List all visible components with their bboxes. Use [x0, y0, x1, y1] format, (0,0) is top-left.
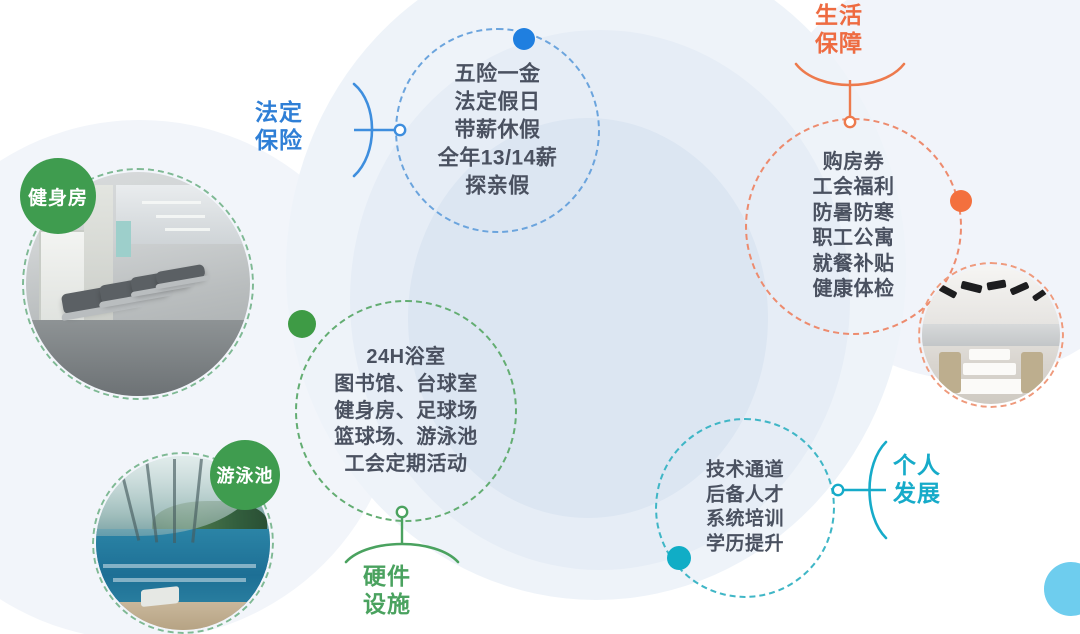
insurance-item-0: 五险一金 — [397, 60, 598, 88]
label-living-line1: 生活 — [815, 2, 863, 30]
badge-gym: 健身房 — [20, 158, 96, 234]
living-item-0: 购房券 — [747, 150, 960, 176]
connector-facility — [338, 504, 468, 566]
infographic-canvas: 五险一金 法定假日 带薪休假 全年13/14薪 探亲假 法定 保险 购房券 工会… — [0, 0, 1080, 634]
facility-item-3: 篮球场、游泳池 — [297, 424, 515, 451]
photo-canteen — [918, 262, 1064, 408]
bubble-growth: 技术通道 后备人才 系统培训 学历提升 — [655, 418, 835, 598]
label-growth-line2: 发展 — [893, 480, 941, 508]
insurance-item-3: 全年13/14薪 — [397, 145, 598, 173]
insurance-item-4: 探亲假 — [397, 173, 598, 201]
label-insurance-line1: 法定 — [255, 99, 303, 127]
living-item-2: 防暑防寒 — [747, 201, 960, 227]
node-dot-living — [950, 190, 972, 212]
node-dot-facility — [288, 310, 316, 338]
label-facility-line2: 设施 — [363, 591, 411, 619]
label-growth: 个人 发展 — [893, 452, 941, 507]
label-living-line2: 保障 — [815, 30, 863, 58]
node-dot-growth — [667, 546, 691, 570]
photo-canteen-ring — [918, 262, 1064, 408]
connector-insurance — [330, 78, 425, 183]
node-dot-insurance — [513, 28, 535, 50]
facility-item-1: 图书馆、台球室 — [297, 371, 515, 398]
growth-item-0: 技术通道 — [657, 459, 833, 484]
living-item-1: 工会福利 — [747, 175, 960, 201]
growth-item-2: 系统培训 — [657, 508, 833, 533]
badge-pool: 游泳池 — [210, 440, 280, 510]
insurance-item-2: 带薪休假 — [397, 116, 598, 144]
insurance-item-1: 法定假日 — [397, 88, 598, 116]
living-item-3: 职工公寓 — [747, 227, 960, 253]
label-growth-line1: 个人 — [893, 452, 941, 480]
bubble-facility: 24H浴室 图书馆、台球室 健身房、足球场 篮球场、游泳池 工会定期活动 — [295, 300, 517, 522]
bubble-insurance: 五险一金 法定假日 带薪休假 全年13/14薪 探亲假 — [395, 28, 600, 233]
corner-accent-circle — [1044, 562, 1080, 616]
bubble-growth-items: 技术通道 后备人才 系统培训 学历提升 — [657, 459, 833, 558]
label-insurance-line2: 保险 — [255, 127, 303, 155]
facility-item-2: 健身房、足球场 — [297, 398, 515, 425]
growth-item-1: 后备人才 — [657, 483, 833, 508]
label-living: 生活 保障 — [815, 2, 863, 57]
label-facility-line1: 硬件 — [363, 563, 411, 591]
bubble-insurance-items: 五险一金 法定假日 带薪休假 全年13/14薪 探亲假 — [397, 60, 598, 201]
facility-item-0: 24H浴室 — [297, 344, 515, 371]
bubble-facility-items: 24H浴室 图书馆、台球室 健身房、足球场 篮球场、游泳池 工会定期活动 — [297, 344, 515, 478]
facility-item-4: 工会定期活动 — [297, 451, 515, 478]
label-insurance: 法定 保险 — [255, 99, 303, 154]
label-facility: 硬件 设施 — [363, 563, 411, 618]
connector-living — [790, 58, 920, 130]
